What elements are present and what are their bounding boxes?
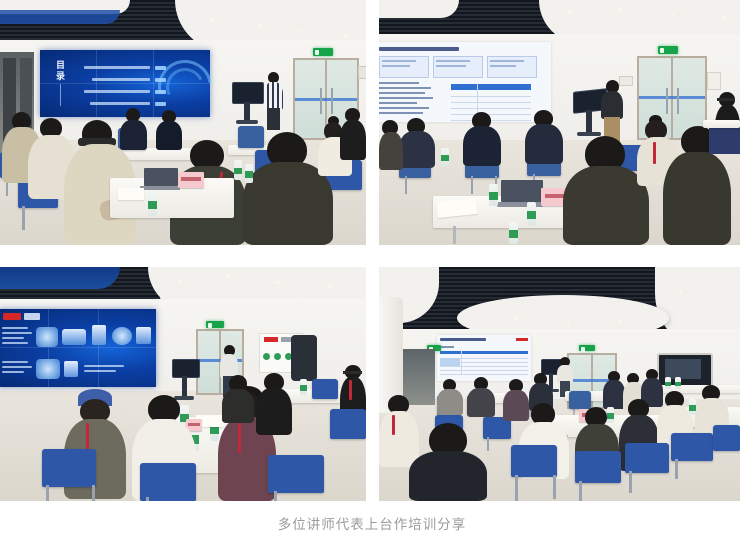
table-tent-card xyxy=(178,172,204,188)
product-slide-screen xyxy=(0,309,156,387)
exit-sign-icon xyxy=(206,321,224,328)
exit-sign-icon xyxy=(579,345,595,351)
exit-sign-icon xyxy=(313,48,333,56)
photo-top-right xyxy=(379,0,740,245)
slide-toc-glyph: 目 xyxy=(56,61,65,70)
photo-top-left: 目 录 xyxy=(0,0,366,245)
wall-monitor xyxy=(291,335,317,381)
photo-collage: 目 录 xyxy=(0,0,744,505)
photo-bottom-right xyxy=(379,267,740,501)
slide-toc-glyph-2: 录 xyxy=(56,72,65,81)
exit-sign-icon xyxy=(658,46,678,54)
brand-logo xyxy=(3,313,21,320)
photo-bottom-left xyxy=(0,267,366,501)
slide-screen xyxy=(437,335,531,381)
caption-text: 多位讲师代表上台作培训分享 xyxy=(278,513,467,533)
collage-caption: 多位讲师代表上台作培训分享 xyxy=(0,505,744,541)
